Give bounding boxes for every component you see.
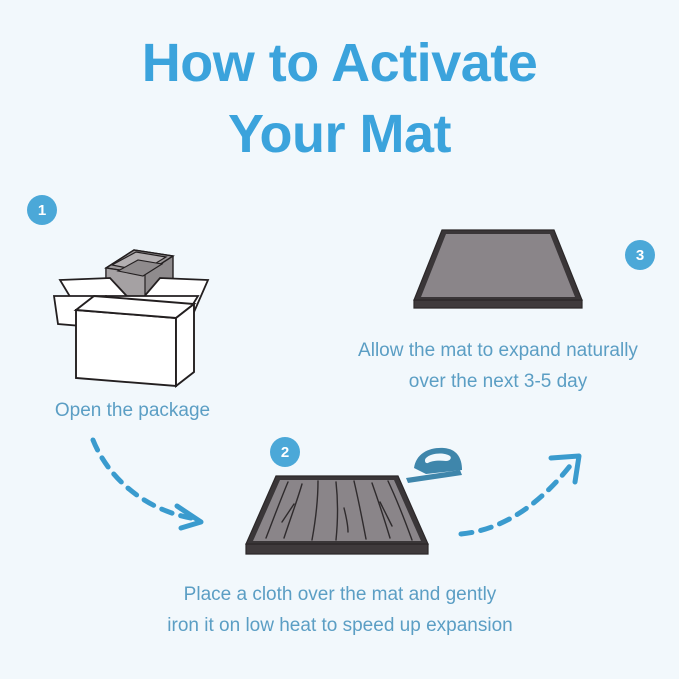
wrinkled-mat-illustration	[232, 468, 442, 573]
flat-mat-illustration	[398, 222, 598, 327]
step-3-caption: Allow the mat to expand naturally over t…	[322, 336, 674, 398]
step-2-caption-line-2: iron it on low heat to speed up expansio…	[110, 611, 570, 642]
mat-top-surface	[421, 234, 575, 297]
step-badge-3-label: 3	[636, 248, 644, 263]
arrow-step1-to-step2-svg	[85, 432, 225, 542]
step-1-caption: Open the package	[10, 396, 255, 427]
step-3-caption-line-2: over the next 3-5 day	[322, 367, 674, 398]
step-2-caption: Place a cloth over the mat and gently ir…	[110, 580, 570, 642]
step-2-caption-line-1: Place a cloth over the mat and gently	[110, 580, 570, 611]
box-side-face	[176, 304, 194, 386]
wrinkled-mat-side-edge	[246, 544, 428, 554]
open-box-svg	[48, 218, 223, 393]
infographic-root: How to Activate Your Mat 1	[0, 0, 679, 679]
page-title-line-2: Your Mat	[0, 99, 679, 170]
box-front-face	[76, 310, 176, 386]
wrinkled-mat-svg	[232, 468, 442, 568]
arrow-step2-to-step3	[455, 438, 605, 553]
arrow-step1-to-step2	[85, 432, 225, 547]
page-title-line-1: How to Activate	[0, 28, 679, 99]
step-badge-2: 2	[270, 437, 300, 467]
step-badge-1-label: 1	[38, 203, 46, 218]
arrow-step2-to-step3-svg	[455, 438, 605, 548]
step-badge-2-label: 2	[281, 445, 289, 460]
arrow-2-dashed-path	[461, 462, 573, 534]
step-3-caption-line-1: Allow the mat to expand naturally	[322, 336, 674, 367]
open-box-illustration	[48, 218, 223, 398]
page-title: How to Activate Your Mat	[0, 28, 679, 171]
step-badge-3: 3	[625, 240, 655, 270]
flat-mat-svg	[398, 222, 598, 322]
mat-side-edge	[414, 300, 582, 308]
